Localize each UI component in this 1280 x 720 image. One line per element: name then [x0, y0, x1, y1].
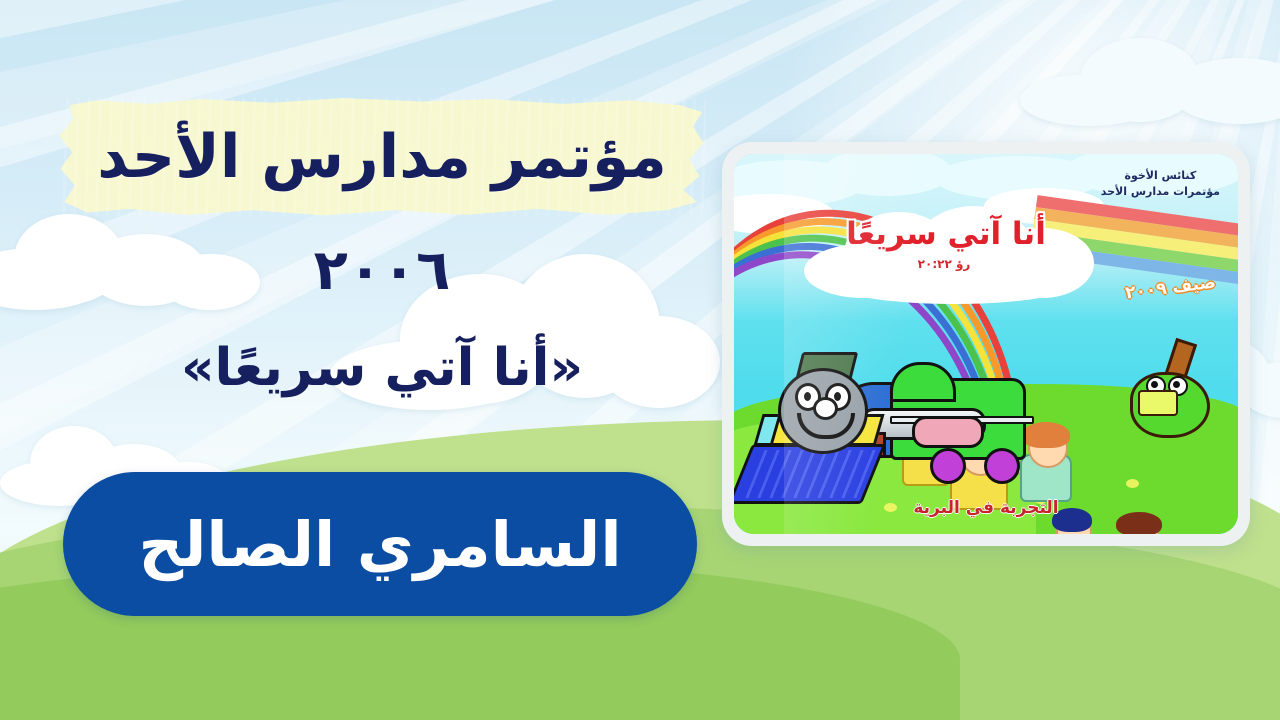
cover-guitar-character — [1124, 346, 1212, 442]
slide-root: مؤتمر مدارس الأحد ٢٠٠٦ «أنا آتي سريعًا» … — [0, 0, 1280, 720]
train-wheel-1 — [930, 448, 966, 484]
book-cover-frame[interactable]: كنائس الأخوة مؤتمرات مدارس الأحد أنا آتي… — [722, 142, 1250, 546]
train-dome — [890, 362, 956, 402]
cover-title: أنا آتي سريعًا — [796, 216, 1096, 252]
cover-caption: التجربة في البرية — [734, 498, 1238, 518]
train-face — [778, 368, 868, 454]
cover-organization-line1: كنائس الأخوة — [1101, 168, 1220, 184]
cover-organization: كنائس الأخوة مؤتمرات مدارس الأحد — [1101, 168, 1220, 200]
conference-year: ٢٠٠٦ — [58, 238, 706, 303]
train-cowcatcher-lines — [736, 450, 877, 498]
cloud-top-right — [1020, 30, 1280, 126]
page-title: مؤتمر مدارس الأحد — [58, 98, 706, 216]
cover-flower-3 — [1126, 479, 1139, 488]
train-cowcatcher — [734, 444, 886, 504]
train-smile — [797, 413, 855, 439]
guitar-soundhole — [1138, 390, 1178, 416]
train-pupil-left — [804, 392, 811, 401]
cover-train — [740, 336, 1040, 506]
book-cover-image: كنائس الأخوة مؤتمرات مدارس الأحد أنا آتي… — [734, 154, 1238, 534]
train-pink-part — [912, 416, 984, 448]
train-pupil-right — [834, 392, 841, 401]
cover-organization-line2: مؤتمرات مدارس الأحد — [1101, 184, 1220, 200]
lesson-button[interactable]: السامري الصالح — [63, 472, 697, 616]
cover-bible-reference: رؤ ٢٠:٢٢ — [854, 257, 1034, 271]
train-wheel-2 — [984, 448, 1020, 484]
conference-subtitle: «أنا آتي سريعًا» — [58, 338, 706, 398]
title-banner: مؤتمر مدارس الأحد — [58, 98, 706, 216]
